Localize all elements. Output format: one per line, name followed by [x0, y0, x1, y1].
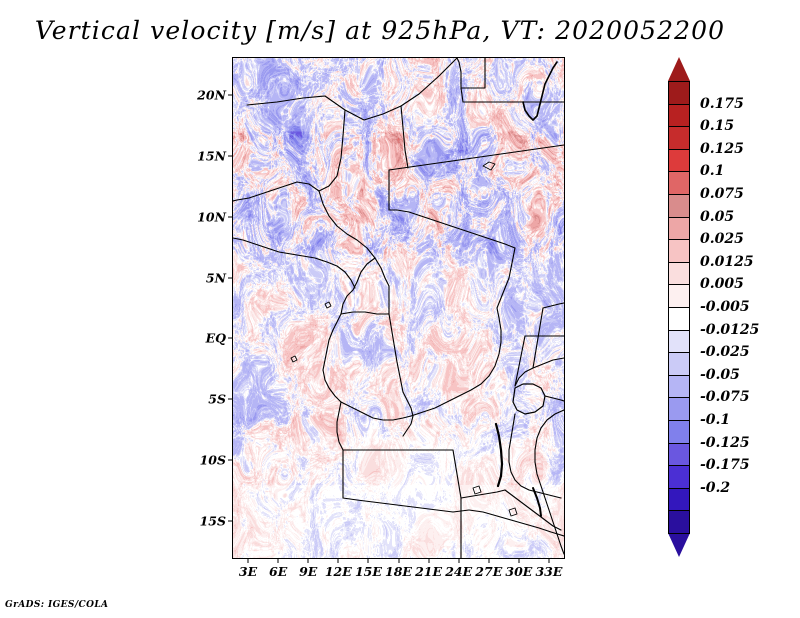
x-axis-tick-mark [548, 558, 549, 563]
x-axis-tick-mark [458, 558, 459, 563]
x-axis-tick-mark [278, 558, 279, 563]
colorbar-swatch [668, 352, 690, 376]
page-title: Vertical velocity [m/s] at 925hPa, VT: 2… [0, 16, 760, 45]
x-axis-tick-label: 33E [535, 564, 562, 579]
colorbar-label: 0.05 [700, 209, 734, 225]
y-axis-tick-label: 15S [200, 514, 226, 529]
x-axis-tick-label: 27E [475, 564, 502, 579]
y-axis-tick-label: 15N [197, 148, 226, 163]
colorbar-label: -0.1 [700, 412, 730, 428]
colorbar-label: -0.025 [700, 344, 750, 360]
colorbar: 0.1750.150.1250.10.0750.050.0250.01250.0… [668, 57, 692, 557]
x-axis-tick-label: 18E [385, 564, 412, 579]
colorbar-swatch [668, 307, 690, 331]
colorbar-arrow-top [668, 57, 690, 81]
colorbar-swatch [668, 149, 690, 173]
y-axis-tick-label: 5N [206, 270, 226, 285]
colorbar-label: 0.175 [700, 96, 744, 112]
x-axis-tick-mark [518, 558, 519, 563]
colorbar-swatch [668, 126, 690, 150]
colorbar-swatch [668, 81, 690, 105]
colorbar-label: 0.125 [700, 141, 744, 157]
colorbar-label: 0.1 [700, 163, 724, 179]
colorbar-swatch [668, 262, 690, 286]
colorbar-swatch [668, 488, 690, 512]
x-axis-tick-label: 3E [239, 564, 257, 579]
colorbar-label: -0.075 [700, 389, 750, 405]
colorbar-swatch [668, 443, 690, 467]
x-axis-tick-mark [488, 558, 489, 563]
y-axis-tick-mark [228, 94, 233, 95]
x-axis-tick-label: 12E [325, 564, 352, 579]
y-axis-tick-label: 5S [208, 392, 226, 407]
colorbar-swatch [668, 465, 690, 489]
colorbar-label: 0.075 [700, 186, 744, 202]
y-axis-tick-label: 20N [197, 87, 226, 102]
colorbar-label: -0.0125 [700, 322, 759, 338]
colorbar-label: 0.0125 [700, 254, 754, 270]
colorbar-label: 0.005 [700, 276, 744, 292]
colorbar-swatch [668, 420, 690, 444]
colorbar-arrow-bottom [668, 533, 690, 557]
colorbar-swatch [668, 171, 690, 195]
colorbar-swatch [668, 104, 690, 128]
colorbar-swatch [668, 510, 690, 534]
colorbar-label: -0.125 [700, 435, 750, 451]
colorbar-swatch [668, 397, 690, 421]
colorbar-label: 0.15 [700, 118, 734, 134]
colorbar-label: 0.025 [700, 231, 744, 247]
x-axis-tick-label: 24E [445, 564, 472, 579]
colorbar-swatch [668, 375, 690, 399]
y-axis-tick-mark [228, 277, 233, 278]
x-axis-tick-label: 30E [505, 564, 532, 579]
y-axis-tick-mark [228, 521, 233, 522]
y-axis-tick-mark [228, 399, 233, 400]
map-plot-area: 20N15N10N5NEQ5S10S15S3E6E9E12E15E18E21E2… [232, 57, 565, 559]
colorbar-swatch [668, 284, 690, 308]
y-axis-tick-mark [228, 155, 233, 156]
country-borders-overlay [233, 58, 564, 558]
x-axis-tick-mark [398, 558, 399, 563]
x-axis-tick-label: 9E [299, 564, 317, 579]
colorbar-label: -0.05 [700, 367, 740, 383]
x-axis-tick-mark [368, 558, 369, 563]
grads-credit: GrADS: IGES/COLA [5, 600, 108, 610]
colorbar-label: -0.005 [700, 299, 750, 315]
x-axis-tick-label: 21E [415, 564, 442, 579]
x-axis-tick-label: 6E [269, 564, 287, 579]
x-axis-tick-mark [428, 558, 429, 563]
y-axis-tick-mark [228, 216, 233, 217]
colorbar-label: -0.175 [700, 457, 750, 473]
y-axis-tick-label: EQ [206, 331, 226, 346]
y-axis-tick-label: 10S [200, 453, 226, 468]
colorbar-swatch [668, 239, 690, 263]
colorbar-swatch [668, 330, 690, 354]
x-axis-tick-mark [338, 558, 339, 563]
x-axis-tick-label: 15E [355, 564, 382, 579]
y-axis-tick-mark [228, 460, 233, 461]
y-axis-tick-mark [228, 338, 233, 339]
x-axis-tick-mark [308, 558, 309, 563]
x-axis-tick-mark [248, 558, 249, 563]
colorbar-label: -0.2 [700, 480, 730, 496]
colorbar-swatch [668, 194, 690, 218]
y-axis-tick-label: 10N [197, 209, 226, 224]
colorbar-swatch [668, 217, 690, 241]
